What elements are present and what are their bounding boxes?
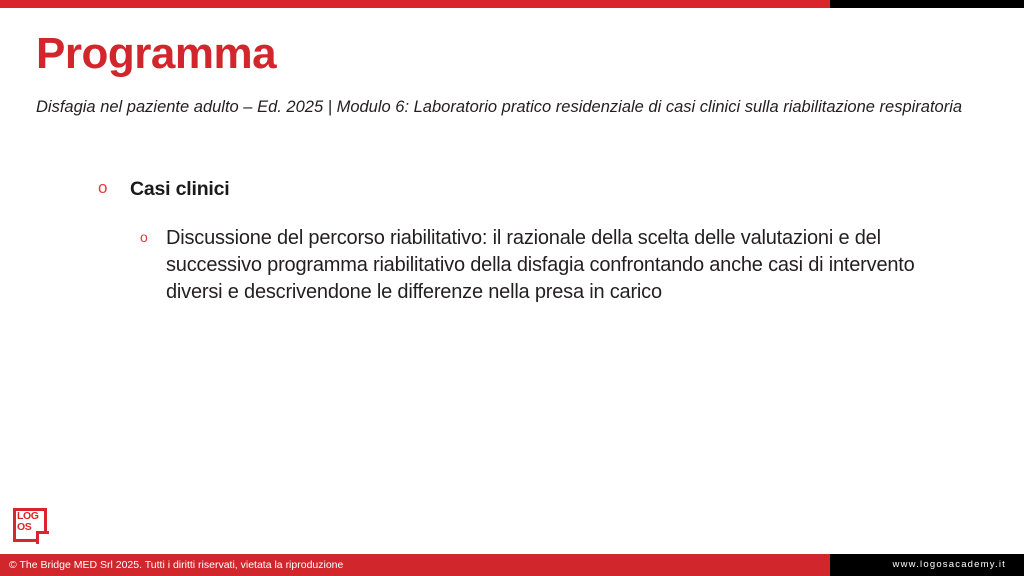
logo-text-line2: OS — [17, 522, 39, 533]
list-item-level1-label: Casi clinici — [130, 178, 229, 200]
list-item-level2-label: Discussione del percorso riabilitativo: … — [166, 227, 915, 303]
slide-canvas: Programma Disfagia nel paziente adulto –… — [0, 0, 1024, 576]
top-accent-bar-black — [830, 0, 1024, 8]
list-item-level1: o Casi clinici — [36, 175, 976, 203]
page-title: Programma — [36, 31, 276, 77]
list-item-level2: o Discussione del percorso riabilitativo… — [36, 225, 976, 305]
bullet-marker-icon: o — [140, 227, 148, 248]
footer-copyright: © The Bridge MED Srl 2025. Tutti i dirit… — [9, 554, 343, 576]
footer-website-link[interactable]: www.logosacademy.it — [893, 554, 1006, 576]
footer-bar: © The Bridge MED Srl 2025. Tutti i dirit… — [0, 554, 1024, 576]
logo-text: LOG OS — [17, 511, 39, 533]
top-accent-bar-red — [0, 0, 830, 8]
page-subtitle: Disfagia nel paziente adulto – Ed. 2025 … — [36, 96, 981, 119]
bullet-marker-icon: o — [98, 176, 107, 201]
logos-logo: LOG OS — [13, 508, 47, 542]
content-body: o Casi clinici o Discussione del percors… — [36, 175, 976, 306]
